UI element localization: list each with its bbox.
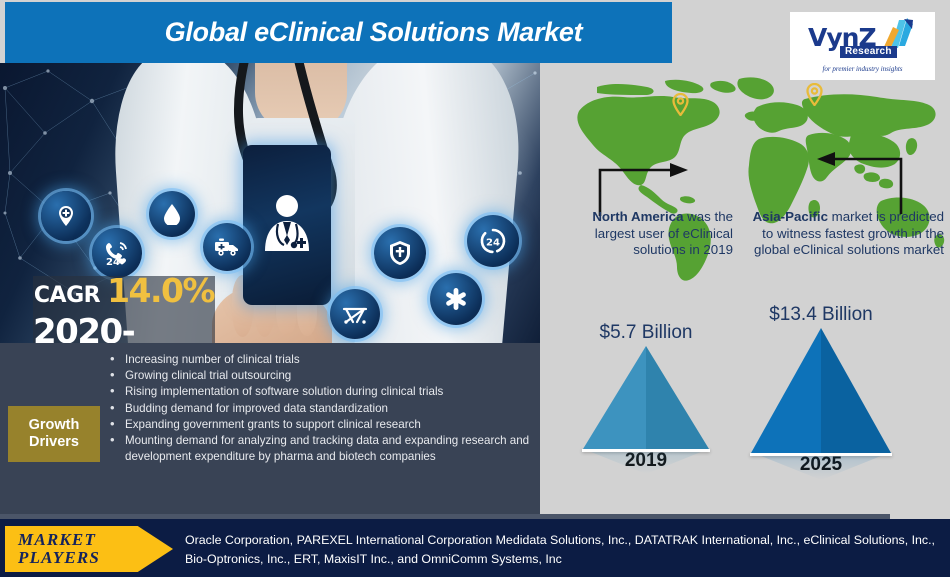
north-america-callout-bold: North America: [592, 209, 683, 224]
hero-image: 24: [0, 63, 540, 343]
market-players-badge: MARKET PLAYERS: [5, 526, 173, 572]
shield-medical-icon: [374, 227, 426, 279]
list-item: Increasing number of clinical trials: [107, 352, 532, 368]
location-pin-medical-icon: [41, 191, 91, 241]
chart-bar-2025: $13.4 Billion 2025: [726, 304, 916, 476]
doctor-profile-icon: [261, 191, 313, 253]
asia-pacific-leader-arrow: [813, 151, 908, 216]
market-players-text: Oracle Corporation, PAREXEL Internationa…: [185, 531, 936, 569]
cagr-callout-box: CAGR 14.0% 2020-2025: [33, 276, 215, 343]
growth-drivers-badge: Growth Drivers: [8, 406, 100, 462]
list-item: Expanding government grants to support c…: [107, 417, 532, 433]
triangle-2025: [751, 328, 891, 453]
north-america-pin: [672, 93, 689, 116]
list-item: Growing clinical trial outsourcing: [107, 368, 532, 384]
cagr-label: CAGR: [34, 283, 100, 308]
growth-drivers-panel: Growth Drivers Increasing number of clin…: [0, 343, 540, 519]
cagr-forecast-years: 2020-2025: [33, 312, 215, 344]
growth-drivers-badge-line2: Drivers: [29, 434, 79, 451]
asterisk-medical-icon: [430, 273, 482, 325]
ambulance-icon: [203, 223, 251, 271]
list-item: Rising implementation of software soluti…: [107, 384, 532, 400]
logo-inner: VynZ Research: [800, 19, 925, 67]
cagr-value: 14.0%: [107, 271, 214, 310]
growth-drivers-badge-line1: Growth: [29, 417, 80, 434]
chart-value-label-2019: $5.7 Billion: [566, 322, 726, 344]
logo-research-badge: Research: [840, 46, 897, 58]
market-players-footer: MARKET PLAYERS Oracle Corporation, PAREX…: [0, 519, 950, 577]
blood-drop-icon: [149, 191, 195, 237]
svg-text:24: 24: [486, 238, 500, 249]
regional-insights-panel: North America was the largest user of eC…: [543, 63, 950, 519]
chart-value-label-2025: $13.4 Billion: [726, 304, 916, 326]
asia-pacific-callout-bold: Asia-Pacific: [753, 209, 828, 224]
market-size-triangle-chart: $5.7 Billion 2019 $13.4 Billion 2025: [543, 308, 950, 513]
24h-clock-icon: 24: [467, 215, 519, 267]
growth-drivers-list: Increasing number of clinical trials Gro…: [107, 352, 532, 465]
market-players-badge-line2: PLAYERS: [18, 549, 100, 567]
smartphone-device: [243, 145, 331, 305]
stretcher-icon: [330, 289, 380, 339]
asia-pacific-callout: Asia-Pacific market is predicted to witn…: [749, 209, 944, 259]
cagr-row: CAGR 14.0%: [34, 271, 214, 310]
page-title: Global eClinical Solutions Market: [95, 17, 583, 48]
header-bar: Global eClinical Solutions Market: [5, 2, 672, 63]
svg-text:24: 24: [106, 257, 120, 266]
triangle-2019: [583, 346, 709, 449]
north-america-callout: North America was the largest user of eC…: [553, 209, 733, 259]
list-item: Budding demand for improved data standar…: [107, 401, 532, 417]
asia-pacific-pin: [806, 83, 823, 106]
market-players-badge-line1: MARKET: [18, 531, 96, 549]
list-item: Mounting demand for analyzing and tracki…: [107, 433, 532, 465]
chart-bar-2019: $5.7 Billion 2019: [566, 322, 726, 472]
vynz-research-logo[interactable]: VynZ Research for premier industry insig…: [790, 12, 935, 80]
